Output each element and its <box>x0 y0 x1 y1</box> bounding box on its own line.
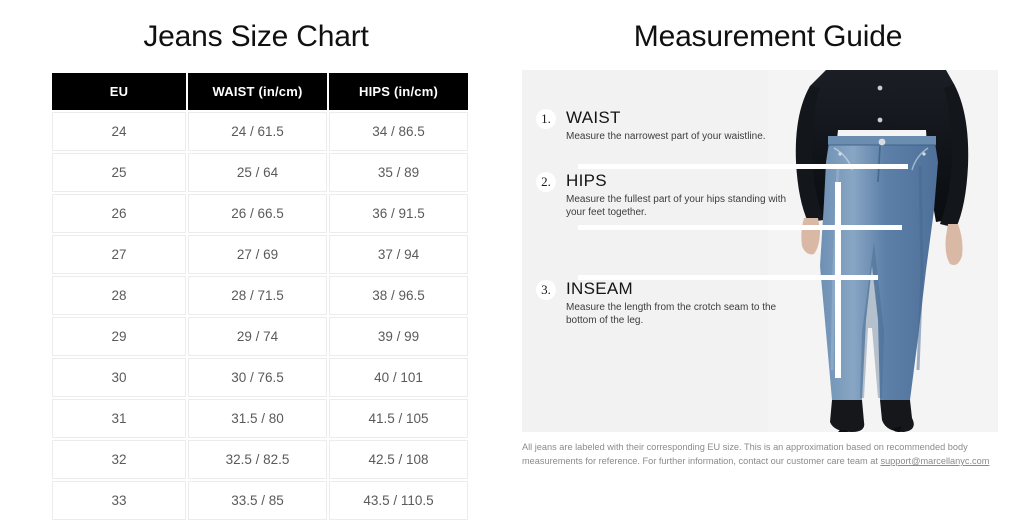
size-chart-panel: Jeans Size Chart EU WAIST (in/cm) HIPS (… <box>0 0 512 492</box>
cell-hips: 40 / 101 <box>329 358 468 397</box>
guide-step-inseam: 3. INSEAM Measure the length from the cr… <box>536 279 798 327</box>
cell-eu: 29 <box>52 317 186 356</box>
step-number-badge: 3. <box>536 280 556 300</box>
column-header-hips: HIPS (in/cm) <box>329 73 468 110</box>
table-row: 24 24 / 61.5 34 / 86.5 <box>52 112 468 151</box>
cell-waist: 32.5 / 82.5 <box>188 440 327 479</box>
model-photo <box>768 70 998 432</box>
step-description-inseam: Measure the length from the crotch seam … <box>566 301 798 327</box>
cell-eu: 25 <box>52 153 186 192</box>
cell-eu: 31 <box>52 399 186 438</box>
table-header-row: EU WAIST (in/cm) HIPS (in/cm) <box>52 73 468 110</box>
step-description-hips: Measure the fullest part of your hips st… <box>566 193 798 219</box>
hips-guide-line <box>578 225 902 230</box>
cell-hips: 42.5 / 108 <box>329 440 468 479</box>
guide-step-hips: 2. HIPS Measure the fullest part of your… <box>536 171 798 219</box>
size-guide-page: Jeans Size Chart EU WAIST (in/cm) HIPS (… <box>0 0 1024 492</box>
cell-eu: 26 <box>52 194 186 233</box>
table-row: 28 28 / 71.5 38 / 96.5 <box>52 276 468 315</box>
measurement-guide-card: 1. WAIST Measure the narrowest part of y… <box>522 70 998 432</box>
cell-hips: 41.5 / 105 <box>329 399 468 438</box>
page-title-size-chart: Jeans Size Chart <box>0 20 512 54</box>
guide-step-waist: 1. WAIST Measure the narrowest part of y… <box>536 108 766 143</box>
cell-hips: 38 / 96.5 <box>329 276 468 315</box>
cell-hips: 43.5 / 110.5 <box>329 481 468 520</box>
table-row: 31 31.5 / 80 41.5 / 105 <box>52 399 468 438</box>
cell-eu: 28 <box>52 276 186 315</box>
cell-waist: 31.5 / 80 <box>188 399 327 438</box>
cell-waist: 26 / 66.5 <box>188 194 327 233</box>
column-header-waist: WAIST (in/cm) <box>188 73 327 110</box>
footnote-disclaimer: All jeans are labeled with their corresp… <box>522 440 1002 468</box>
column-header-eu: EU <box>52 73 186 110</box>
table-row: 26 26 / 66.5 36 / 91.5 <box>52 194 468 233</box>
step-label-waist: WAIST <box>566 108 766 127</box>
cell-eu: 30 <box>52 358 186 397</box>
inseam-vertical-line <box>835 182 841 378</box>
table-row: 33 33.5 / 85 43.5 / 110.5 <box>52 481 468 520</box>
table-row: 27 27 / 69 37 / 94 <box>52 235 468 274</box>
cell-waist: 25 / 64 <box>188 153 327 192</box>
cell-waist: 29 / 74 <box>188 317 327 356</box>
cell-eu: 24 <box>52 112 186 151</box>
support-email-link[interactable]: support@marcellanyc.com <box>880 456 989 466</box>
cell-hips: 37 / 94 <box>329 235 468 274</box>
step-label-inseam: INSEAM <box>566 279 798 298</box>
cell-waist: 27 / 69 <box>188 235 327 274</box>
measurement-guide-panel: Measurement Guide <box>512 0 1024 492</box>
step-description-waist: Measure the narrowest part of your waist… <box>566 130 766 143</box>
waist-guide-line <box>578 164 908 169</box>
step-number-badge: 1. <box>536 109 556 129</box>
cell-waist: 24 / 61.5 <box>188 112 327 151</box>
cell-hips: 36 / 91.5 <box>329 194 468 233</box>
table-row: 30 30 / 76.5 40 / 101 <box>52 358 468 397</box>
table-row: 29 29 / 74 39 / 99 <box>52 317 468 356</box>
page-title-measurement-guide: Measurement Guide <box>512 20 1024 54</box>
cell-eu: 33 <box>52 481 186 520</box>
cell-waist: 30 / 76.5 <box>188 358 327 397</box>
size-chart-table: EU WAIST (in/cm) HIPS (in/cm) 24 24 / 61… <box>50 71 470 522</box>
cell-eu: 27 <box>52 235 186 274</box>
cell-waist: 28 / 71.5 <box>188 276 327 315</box>
step-label-hips: HIPS <box>566 171 798 190</box>
table-row: 32 32.5 / 82.5 42.5 / 108 <box>52 440 468 479</box>
cell-waist: 33.5 / 85 <box>188 481 327 520</box>
table-row: 25 25 / 64 35 / 89 <box>52 153 468 192</box>
cell-eu: 32 <box>52 440 186 479</box>
cell-hips: 34 / 86.5 <box>329 112 468 151</box>
cell-hips: 39 / 99 <box>329 317 468 356</box>
cell-hips: 35 / 89 <box>329 153 468 192</box>
step-number-badge: 2. <box>536 172 556 192</box>
